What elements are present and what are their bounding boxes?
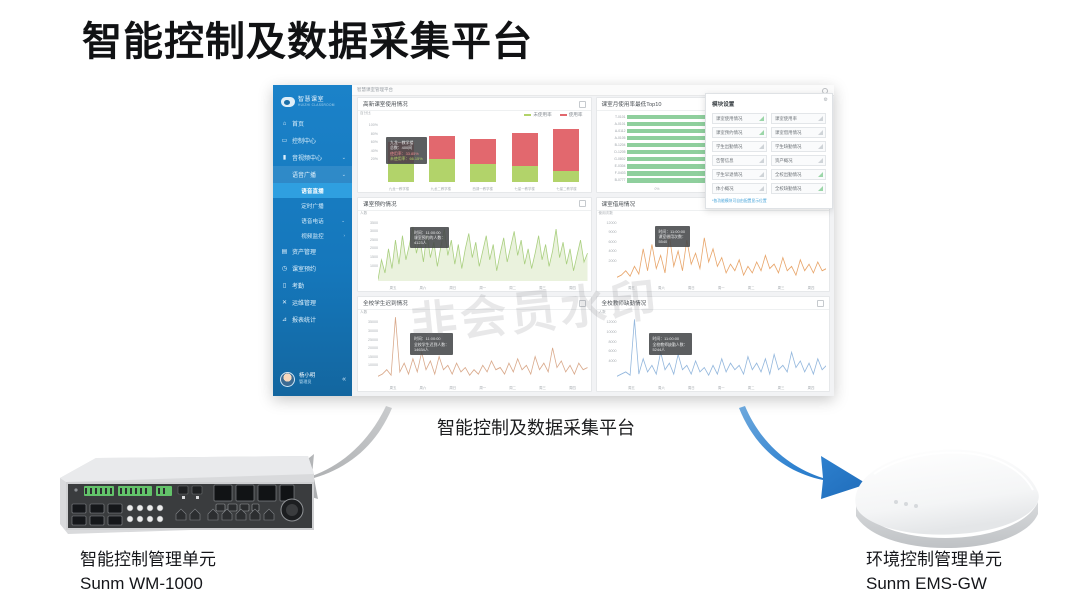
settings-item[interactable]: 全校缺勤情况 xyxy=(771,183,826,194)
settings-item[interactable]: 学生早退情况 xyxy=(712,169,767,180)
device-label-left: 智能控制管理单元 Sunm WM-1000 xyxy=(80,548,216,596)
card-title: 课室预约情况 xyxy=(363,200,397,208)
sidebar-subitem-label: 定时广播 xyxy=(301,202,323,210)
card-title: 全校教师缺勤情况 xyxy=(602,299,647,307)
y-axis-ticks: 12000 10000 8000 6000 4000 xyxy=(599,321,617,381)
y-axis-label: 百分比 xyxy=(360,111,371,116)
sidebar-item-label: 运维管理 xyxy=(292,298,316,307)
card-room-booking: 课室预约情况 人数 3500 3000 2500 2000 1500 1000 xyxy=(357,197,592,293)
sidebar-item-label: 报表统计 xyxy=(292,315,316,324)
box-icon: ▤ xyxy=(281,248,288,255)
chevron-down-icon: ⌄ xyxy=(341,218,345,224)
brand-logo: 智慧课室 HUIZHI CLASSROOM xyxy=(281,94,345,110)
bar-group xyxy=(512,122,538,182)
settings-item[interactable]: 课室预约情况 xyxy=(712,127,767,138)
sidebar-subitem-label: 语音电话 xyxy=(301,217,323,225)
dashboard-screenshot: 智慧课室 HUIZHI CLASSROOM ⌂ 首页 ▭ 控制中心 ▮ 音视频中… xyxy=(273,85,834,396)
sidebar-item-label: 语音广播 xyxy=(292,170,316,179)
expand-icon[interactable] xyxy=(579,200,586,207)
bar-group xyxy=(553,122,579,182)
sidebar-subitem-live-voice[interactable]: 语音直播 xyxy=(273,183,352,198)
tools-icon: ✕ xyxy=(281,299,288,306)
sidebar-item-home[interactable]: ⌂ 首页 xyxy=(273,115,352,132)
sidebar-item-attendance[interactable]: ▯ 考勤 xyxy=(273,277,352,294)
y-axis-label: 人数 xyxy=(360,211,367,216)
chevron-down-icon: ⌄ xyxy=(342,155,346,161)
sidebar-item-av-center[interactable]: ▮ 音视频中心 ⌄ xyxy=(273,149,352,166)
y-axis-ticks: 3500 3000 2500 2000 1500 1000 xyxy=(360,222,378,282)
toggle-corner-icon xyxy=(818,144,823,149)
y-axis-label: 人数 xyxy=(599,310,606,315)
chart-tooltip: 时间：11:00:00 课室预约的人数： 4123人 xyxy=(410,227,449,249)
sidebar-subitem-label: 语音直播 xyxy=(301,187,323,195)
brand-name-cn: 智慧课室 xyxy=(298,97,335,103)
settings-item[interactable]: 课室使用率 xyxy=(771,113,826,124)
x-axis-ticks: 周五 周六 周日 周一 周二 周三 周四 xyxy=(617,385,827,390)
y-axis-ticks: 12000 9000 6000 4000 2000 xyxy=(599,222,617,282)
sidebar-item-label: 课室预约 xyxy=(292,264,316,273)
settings-item[interactable]: 课室使用情况 xyxy=(712,113,767,124)
y-axis-label: 使用次数 xyxy=(599,211,613,216)
speaker-icon xyxy=(281,171,288,178)
line-chart xyxy=(617,216,827,282)
x-axis-ticks: 九龙一教学楼 九龙二教学楼 西湖一教学楼 七星一教学楼 七星二教学楼 xyxy=(378,186,588,191)
card-room-usage: 高新课室使用情况 未使用率 使用率 百分比 100% 80% 60% 40% 2… xyxy=(357,97,592,193)
bar-group xyxy=(429,122,455,182)
toggle-corner-icon xyxy=(759,130,764,135)
sidebar-item-label: 控制中心 xyxy=(292,136,316,145)
chart-tooltip: 九龙一教学楼 总数：400间 使用率：33.85% 未使用率：66.15% xyxy=(386,137,427,164)
line-chart xyxy=(617,315,827,381)
card-body: 使用次数 12000 9000 6000 4000 2000 周 xyxy=(597,210,830,292)
legend-item-used: 使用率 xyxy=(560,112,583,118)
bar-group xyxy=(470,122,496,182)
settings-item[interactable]: 学生出勤情况 xyxy=(712,141,767,152)
device-name-cn: 环境控制管理单元 xyxy=(866,548,1002,572)
toggle-corner-icon xyxy=(759,172,764,177)
settings-title: 模块设置 xyxy=(712,100,826,108)
settings-items-grid: 课室使用情况 课室使用率 课室预约情况 课室借用情况 学生出勤情况 学生缺勤情况… xyxy=(712,113,826,194)
toggle-corner-icon xyxy=(818,116,823,121)
device-image-control-unit xyxy=(56,452,318,540)
chart-tooltip: 时间：11:00:00 全校学生迟到人数： 14634人 xyxy=(410,333,453,355)
toggle-corner-icon xyxy=(759,158,764,163)
y-axis-label: 人数 xyxy=(360,310,367,315)
card-title: 课室月使用率最低Top10 xyxy=(602,100,662,108)
settings-note: *各功能模块可自由配置显示位置 xyxy=(712,199,826,204)
device-name-cn: 智能控制管理单元 xyxy=(80,548,216,572)
settings-item[interactable]: 资产概况 xyxy=(771,155,826,166)
toggle-corner-icon xyxy=(818,186,823,191)
card-student-late: 全校学生迟到情况 人数 35000 30000 25000 20000 1500… xyxy=(357,296,592,392)
dashboard-sidebar: 智慧课室 HUIZHI CLASSROOM ⌂ 首页 ▭ 控制中心 ▮ 音视频中… xyxy=(273,85,352,396)
collapse-sidebar-button[interactable]: « xyxy=(342,376,346,383)
device-model: Sunm EMS-GW xyxy=(866,572,1002,596)
settings-item[interactable]: 全校出勤情况 xyxy=(771,169,826,180)
expand-icon[interactable] xyxy=(579,300,586,307)
sidebar-subitem-label: 视频监控 xyxy=(301,232,323,240)
sidebar-item-label: 音视频中心 xyxy=(292,153,322,162)
device-model: Sunm WM-1000 xyxy=(80,572,216,596)
video-icon: ▮ xyxy=(281,154,288,161)
settings-item[interactable]: 告警信息 xyxy=(712,155,767,166)
card-body: 人数 3500 3000 2500 2000 1500 1000 xyxy=(358,210,591,292)
cloud-icon xyxy=(281,97,295,107)
slide-canvas: 智能控制及数据采集平台 智慧课室 HUIZHI CLASSROOM ⌂ 首页 ▭… xyxy=(0,0,1080,608)
module-settings-panel: ⚙ 模块设置 课室使用情况 课室使用率 课室预约情况 课室借用情况 学生出勤情况… xyxy=(705,93,833,209)
chevron-down-icon: ⌄ xyxy=(342,172,346,178)
settings-item[interactable]: 体小概况 xyxy=(712,183,767,194)
card-body: 人数 35000 30000 25000 20000 15000 10000 xyxy=(358,309,591,391)
card-body: 未使用率 使用率 百分比 100% 80% 60% 40% 20% xyxy=(358,110,591,192)
x-axis-ticks: 周五 周六 周日 周一 周二 周三 周四 xyxy=(378,285,588,290)
topbar-title: 智慧课室管理平台 xyxy=(357,87,393,93)
sidebar-subitem-voice-call[interactable]: 语音电话 ⌄ xyxy=(273,213,352,228)
chart-icon: ⊿ xyxy=(281,316,288,323)
card-room-borrowing: 课室借用情况 使用次数 12000 9000 6000 4000 2000 xyxy=(596,197,831,293)
settings-item[interactable]: 课室借用情况 xyxy=(771,127,826,138)
sidebar-item-label: 考勤 xyxy=(292,281,304,290)
sidebar-item-ops-management[interactable]: ✕ 运维管理 xyxy=(273,294,352,311)
card-body: 人数 12000 10000 8000 6000 4000 周五 xyxy=(597,309,830,391)
sidebar-item-label: 首页 xyxy=(292,119,304,128)
sidebar-user-block[interactable]: 杨小明 管理员 « xyxy=(273,368,352,390)
expand-icon[interactable] xyxy=(817,300,824,307)
card-title: 高新课室使用情况 xyxy=(363,100,408,108)
home-icon: ⌂ xyxy=(281,120,288,127)
x-axis-ticks: 周五 周六 周日 周一 周二 周三 周四 xyxy=(378,385,588,390)
chevron-right-icon: › xyxy=(344,233,346,238)
toggle-corner-icon xyxy=(818,158,823,163)
sidebar-item-label: 资产管理 xyxy=(292,247,316,256)
expand-icon[interactable] xyxy=(579,101,586,108)
clock-icon: ◷ xyxy=(281,265,288,272)
gear-icon[interactable]: ⚙ xyxy=(824,97,828,103)
chart-tooltip: 时间：11:00:00 课室借用次数： 5540 xyxy=(655,226,690,248)
y-axis-ticks: T-0101 A-0101 A-0112 A-0105 B-1204 D-120… xyxy=(599,115,626,183)
area-chart xyxy=(378,216,588,282)
monitor-icon: ▭ xyxy=(281,137,288,144)
y-axis-ticks: 35000 30000 25000 20000 15000 10000 xyxy=(360,321,378,381)
x-axis-ticks: 周五 周六 周日 周一 周二 周三 周四 xyxy=(617,285,827,290)
sidebar-item-control-center[interactable]: ▭ 控制中心 xyxy=(273,132,352,149)
sidebar-item-asset-management[interactable]: ▤ 资产管理 xyxy=(273,243,352,260)
chart-legend: 未使用率 使用率 xyxy=(524,112,582,118)
card-teacher-absence: 全校教师缺勤情况 人数 12000 10000 8000 6000 4000 xyxy=(596,296,831,392)
device-image-ceiling-gateway xyxy=(838,438,1060,550)
card-title: 课室借用情况 xyxy=(602,200,636,208)
toggle-corner-icon xyxy=(818,130,823,135)
chart-tooltip: 时间：11:00:00 全校教师缺勤人数： 5244人 xyxy=(649,333,692,355)
card-title: 全校学生迟到情况 xyxy=(363,299,408,307)
user-role: 管理员 xyxy=(299,380,315,385)
diagram-caption: 智能控制及数据采集平台 xyxy=(437,414,635,440)
sidebar-subitem-video-monitor[interactable]: 视频监控 › xyxy=(273,228,352,243)
brand-name-en: HUIZHI CLASSROOM xyxy=(298,104,335,107)
sidebar-item-room-booking[interactable]: ◷ 课室预约 xyxy=(273,260,352,277)
toggle-corner-icon xyxy=(818,172,823,177)
toggle-corner-icon xyxy=(759,186,764,191)
toggle-corner-icon xyxy=(759,144,764,149)
sidebar-item-voice-broadcast[interactable]: 语音广播 ⌄ xyxy=(273,166,352,183)
settings-item[interactable]: 学生缺勤情况 xyxy=(771,141,826,152)
avatar xyxy=(280,372,295,387)
device-label-right: 环境控制管理单元 Sunm EMS-GW xyxy=(866,548,1002,596)
page-title: 智能控制及数据采集平台 xyxy=(82,18,533,66)
toggle-corner-icon xyxy=(759,116,764,121)
sidebar-subitem-timed-broadcast[interactable]: 定时广播 xyxy=(273,198,352,213)
sidebar-nav: ⌂ 首页 ▭ 控制中心 ▮ 音视频中心 ⌄ 语音广播 ⌄ xyxy=(273,115,352,328)
legend-item-unused: 未使用率 xyxy=(524,112,551,118)
doc-icon: ▯ xyxy=(281,282,288,289)
sidebar-item-report-stats[interactable]: ⊿ 报表统计 xyxy=(273,311,352,328)
y-axis-ticks: 100% 80% 60% 40% 20% xyxy=(360,124,378,182)
